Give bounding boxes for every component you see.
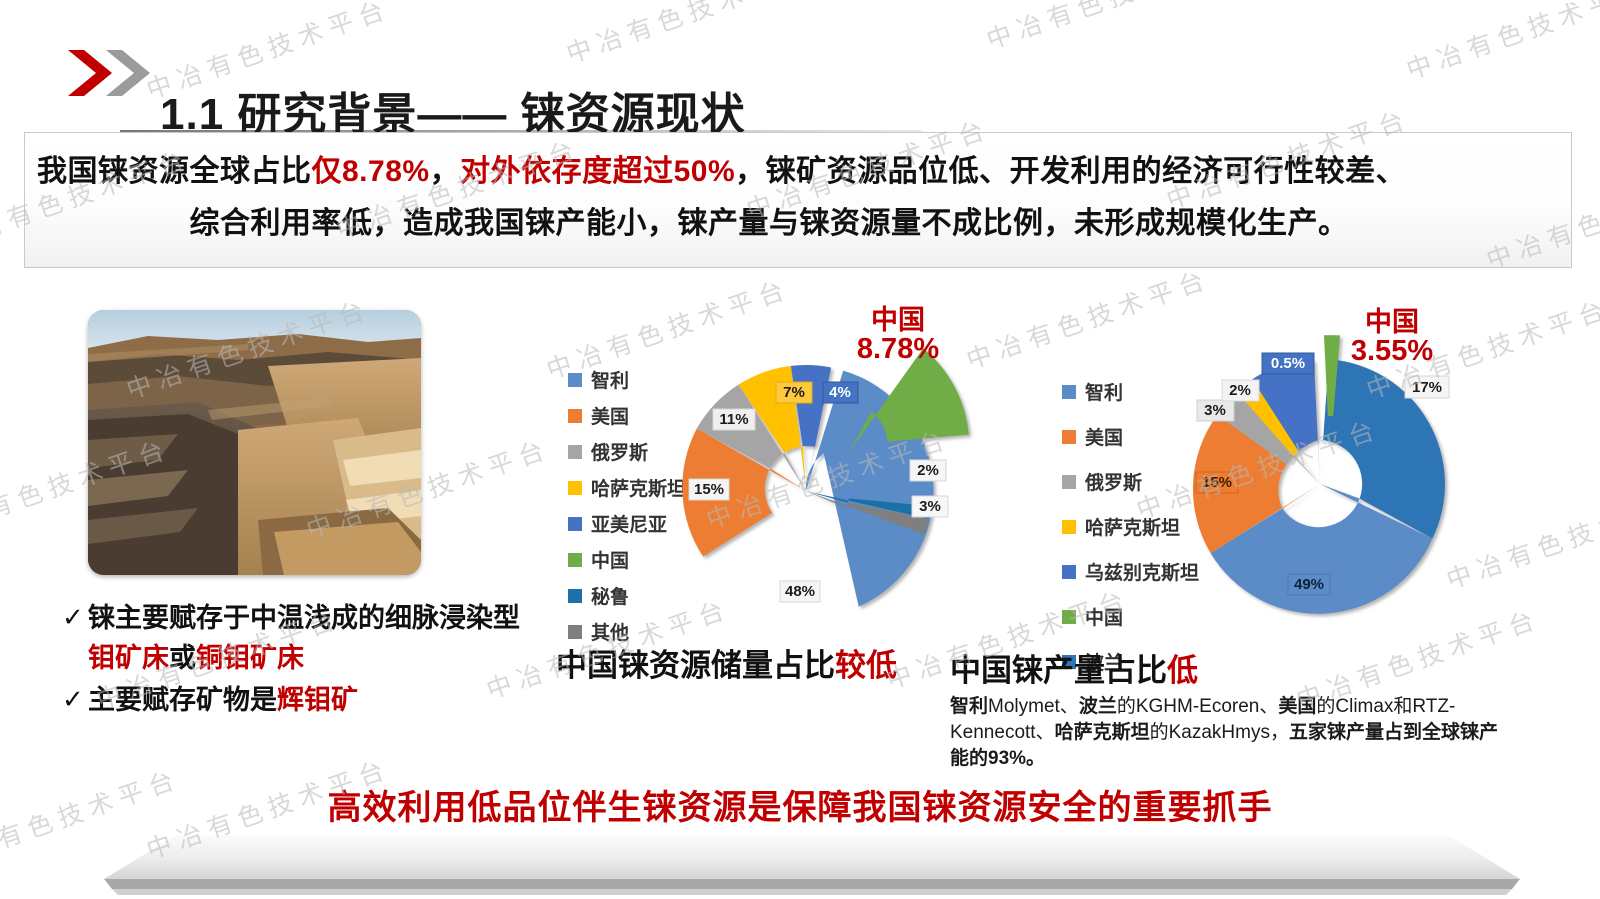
legend-swatch-armenia <box>568 517 582 531</box>
bullet-text-1: 铼主要赋存于中温浅成的细脉浸染型钼矿床或铜钼矿床 <box>88 598 532 678</box>
bullet-2-red-1: 辉钼矿 <box>277 685 358 715</box>
legend-swatch-china <box>568 553 582 567</box>
note-part-8: 的KazakHmys， <box>1150 722 1289 743</box>
open-pit-mine-photo <box>88 310 421 575</box>
note-part-1: 智利 <box>950 696 988 717</box>
bullet-2-text-a: 主要赋存矿物是 <box>88 685 277 715</box>
chart-1-caption-red: 较低 <box>835 648 897 683</box>
legend-swatch-russia <box>568 445 582 459</box>
legend-swatch-usa <box>568 409 582 423</box>
chart-2-caption-red: 低 <box>1167 653 1198 688</box>
statement-highlight-share: 仅8.78% <box>312 155 430 188</box>
svg-text:3%: 3% <box>1204 402 1226 419</box>
legend2-label-usa: 美国 <box>1085 423 1123 450</box>
legend2-swatch-chile <box>1062 385 1076 399</box>
statement-line-1: 我国铼资源全球占比仅8.78%，对外依存度超过50%，铼矿资源品位低、开发利用的… <box>37 146 1561 198</box>
chart-2-caption: 中国铼产量占比低 <box>950 645 1198 690</box>
chart-2-note: 智利Molymet、波兰的KGHM-Ecoren、美国的Climax和RTZ-K… <box>950 694 1510 772</box>
statement-box: 我国铼资源全球占比仅8.78%，对外依存度超过50%，铼矿资源品位低、开发利用的… <box>24 132 1572 268</box>
statement-highlight-dependency: 对外依存度超过50% <box>460 155 735 188</box>
bullet-1-red-1: 钼矿床 <box>88 643 169 673</box>
svg-text:17%: 17% <box>1412 379 1442 396</box>
chart-2-china-callout: 中国 3.55% <box>1332 308 1452 367</box>
statement-comma: ， <box>430 155 461 188</box>
bullet-1-text-b: 或 <box>169 643 196 673</box>
statement-text-a: 我国铼资源全球占比 <box>37 155 312 188</box>
list-item: ✓ 铼主要赋存于中温浅成的细脉浸染型钼矿床或铜钼矿床 <box>62 598 532 678</box>
bullet-1-text-a: 铼主要赋存于中温浅成的细脉浸染型 <box>88 603 520 633</box>
legend2-swatch-uzbekistan <box>1062 565 1076 579</box>
legend-label-chile: 智利 <box>591 366 629 393</box>
chevron-gray-icon <box>104 48 160 98</box>
legend-label-russia: 俄罗斯 <box>591 438 648 465</box>
statement-text-c: ，铼矿资源品位低、开发利用的经济可行性较差、 <box>735 155 1406 188</box>
svg-text:7%: 7% <box>783 384 805 401</box>
svg-text:15%: 15% <box>694 481 724 498</box>
legend-label-usa: 美国 <box>591 402 629 429</box>
bullet-1-red-2: 铜钼矿床 <box>196 643 304 673</box>
bullet-list: ✓ 铼主要赋存于中温浅成的细脉浸染型钼矿床或铜钼矿床 ✓ 主要赋存矿物是辉钼矿 <box>62 598 532 722</box>
legend-swatch-kazakhstan <box>568 481 582 495</box>
chart-1-donut: 48% 15% 11% 7% 4% 2% 3% <box>660 360 960 620</box>
check-icon: ✓ <box>62 598 88 638</box>
svg-text:11%: 11% <box>719 411 748 428</box>
chart-2-china-value: 3.55% <box>1332 336 1452 366</box>
legend2-label-china: 中国 <box>1085 603 1123 630</box>
note-part-5: 美国 <box>1278 696 1316 717</box>
chart-2-donut: 49% 15% 3% 2% 0.5% 17% <box>1150 348 1490 618</box>
chart-1-china-label: 中国 <box>838 306 958 334</box>
legend2-swatch-china <box>1062 610 1076 624</box>
slide-header: 1.1 研究背景—— 铼资源现状 <box>0 42 1600 104</box>
note-part-3: 波兰 <box>1079 696 1117 717</box>
legend2-label-chile: 智利 <box>1085 378 1123 405</box>
note-part-4: 的KGHM-Ecoren、 <box>1117 696 1279 717</box>
chart-1-china-value: 8.78% <box>838 334 958 364</box>
legend-label-china: 中国 <box>591 546 629 573</box>
note-part-2: Molymet、 <box>988 696 1079 717</box>
svg-text:49%: 49% <box>1294 576 1324 593</box>
chart-1-caption: 中国铼资源储量占比较低 <box>556 640 897 685</box>
legend-label-armenia: 亚美尼亚 <box>591 510 667 537</box>
legend-swatch-peru <box>568 589 582 603</box>
svg-text:2%: 2% <box>1229 382 1251 399</box>
chart-2-caption-plain: 中国铼产量占比 <box>950 653 1167 688</box>
svg-text:48%: 48% <box>785 583 815 600</box>
bullet-text-2: 主要赋存矿物是辉钼矿 <box>88 680 358 720</box>
svg-text:2%: 2% <box>917 462 939 479</box>
legend-swatch-other <box>568 625 582 639</box>
svg-text:3%: 3% <box>919 498 941 515</box>
legend2-label-russia: 俄罗斯 <box>1085 468 1142 495</box>
chart-1-caption-plain: 中国铼资源储量占比 <box>556 648 835 683</box>
svg-text:0.5%: 0.5% <box>1271 355 1305 372</box>
legend2-swatch-kazakhstan <box>1062 520 1076 534</box>
slide-root: 1.1 研究背景—— 铼资源现状 我国铼资源全球占比仅8.78%，对外依存度超过… <box>0 0 1600 899</box>
bottom-banner-text: 高效利用低品位伴生铼资源是保障我国铼资源安全的重要抓手 <box>0 780 1600 829</box>
legend2-swatch-russia <box>1062 475 1076 489</box>
chart-2-china-label: 中国 <box>1332 308 1452 336</box>
note-part-7: 哈萨克斯坦 <box>1055 722 1150 743</box>
legend-swatch-chile <box>568 373 582 387</box>
check-icon: ✓ <box>62 680 88 720</box>
legend2-swatch-usa <box>1062 430 1076 444</box>
chart-1-china-callout: 中国 8.78% <box>838 306 958 365</box>
legend-label-peru: 秘鲁 <box>591 582 629 609</box>
svg-text:4%: 4% <box>829 384 851 401</box>
statement-line-2: 综合利用率低，造成我国铼产能小，铼产量与铼资源量不成比例，未形成规模化生产。 <box>37 198 1561 250</box>
svg-text:15%: 15% <box>1202 474 1232 491</box>
list-item: ✓ 主要赋存矿物是辉钼矿 <box>62 680 532 720</box>
